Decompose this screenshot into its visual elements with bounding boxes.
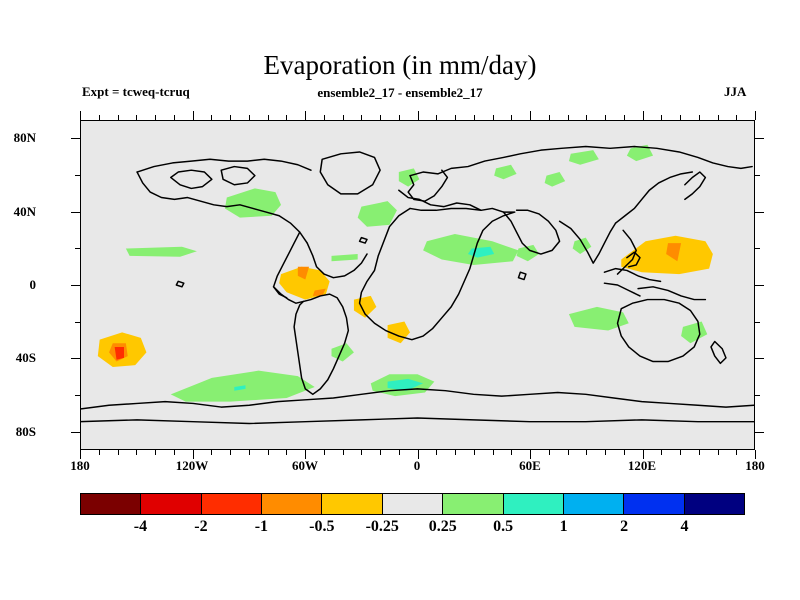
x-axis-tick	[361, 450, 362, 455]
x-axis-tick	[249, 450, 250, 455]
y-axis-tick	[71, 138, 80, 139]
x-axis-tick	[605, 450, 606, 455]
x-axis-tick-top	[286, 115, 287, 120]
x-axis-tick	[643, 450, 644, 459]
y-axis-tick-right	[755, 395, 760, 396]
x-axis-tick-top	[643, 111, 644, 120]
x-axis-tick	[211, 450, 212, 455]
x-axis-tick-top	[455, 115, 456, 120]
x-axis-tick-top	[211, 115, 212, 120]
y-tick-label-40s: 40S	[16, 350, 36, 366]
x-axis-tick-top	[80, 111, 81, 120]
x-axis-tick-top	[324, 115, 325, 120]
y-axis-tick-right	[755, 175, 760, 176]
contour-shading	[98, 145, 713, 402]
x-axis-tick	[718, 450, 719, 455]
x-axis-tick-top	[624, 115, 625, 120]
x-axis-tick-top	[343, 115, 344, 120]
y-axis-tick	[71, 358, 80, 359]
y-axis-tick-right	[755, 248, 760, 249]
x-axis-tick-top	[530, 111, 531, 120]
x-axis-tick	[568, 450, 569, 455]
x-axis-tick-top	[268, 115, 269, 120]
y-tick-label-40n: 40N	[14, 204, 36, 220]
y-axis-tick	[71, 432, 80, 433]
y-axis-tick	[75, 248, 80, 249]
colorbar-tick-label: -1	[255, 518, 268, 536]
x-axis-tick-top	[136, 115, 137, 120]
colorbar-tick-label: 2	[620, 518, 628, 536]
x-tick-label-60e: 60E	[519, 458, 541, 474]
x-axis-tick-top	[511, 115, 512, 120]
x-axis-tick	[230, 450, 231, 455]
x-axis-tick	[136, 450, 137, 455]
colorbar-tick-label: 4	[681, 518, 689, 536]
x-axis-tick-top	[155, 115, 156, 120]
x-axis-tick	[155, 450, 156, 455]
colorbar-swatch-dark-maroon	[81, 494, 141, 514]
colorbar-swatch-navy	[685, 494, 744, 514]
page-title: Evaporation (in mm/day)	[0, 50, 800, 81]
x-axis-tick	[99, 450, 100, 455]
x-axis-tick-top	[193, 111, 194, 120]
x-axis-tick-top	[718, 115, 719, 120]
x-axis-tick-top	[568, 115, 569, 120]
colorbar-tick-label: 0.25	[429, 518, 457, 536]
colorbar-tick-label: -0.5	[309, 518, 334, 536]
world-map-svg	[81, 121, 754, 449]
y-tick-label-0: 0	[30, 277, 37, 293]
y-axis-tick	[71, 285, 80, 286]
x-axis-tick-top	[755, 111, 756, 120]
x-axis-tick	[286, 450, 287, 455]
x-axis-tick-top	[736, 115, 737, 120]
y-axis-tick-right	[755, 322, 760, 323]
x-axis-tick	[455, 450, 456, 455]
colorbar-swatch-blue	[624, 494, 684, 514]
colorbar-tick-label: -0.25	[366, 518, 399, 536]
y-axis-tick-right	[755, 432, 764, 433]
colorbar-swatch-orange	[262, 494, 322, 514]
x-axis-tick	[755, 450, 756, 459]
x-axis-tick-top	[399, 115, 400, 120]
x-tick-label-0: 0	[414, 458, 421, 474]
x-axis-tick-top	[230, 115, 231, 120]
x-axis-tick	[661, 450, 662, 455]
y-tick-label-80n: 80N	[14, 130, 36, 146]
x-axis-tick	[343, 450, 344, 455]
x-axis-tick	[511, 450, 512, 455]
figure-root: Evaporation (in mm/day) Expt = tcweq-tcr…	[0, 0, 800, 600]
colorbar-swatch-sky-blue	[564, 494, 624, 514]
x-axis-tick-top	[418, 111, 419, 120]
x-axis-tick-top	[549, 115, 550, 120]
x-axis-tick-top	[249, 115, 250, 120]
y-axis-tick-right	[755, 138, 764, 139]
x-axis-tick-top	[361, 115, 362, 120]
colorbar-tick-label: 0.5	[493, 518, 513, 536]
x-tick-label-120w: 120W	[176, 458, 209, 474]
y-axis-tick	[75, 175, 80, 176]
y-axis-tick	[75, 395, 80, 396]
x-axis-tick	[586, 450, 587, 455]
y-axis-tick-right	[755, 358, 764, 359]
colorbar-swatch-light-green	[443, 494, 503, 514]
x-axis-tick	[436, 450, 437, 455]
colorbar-swatch-orange-red	[202, 494, 262, 514]
x-axis-tick	[399, 450, 400, 455]
x-axis-tick	[174, 450, 175, 455]
x-axis-tick	[305, 450, 306, 459]
x-axis-tick-top	[99, 115, 100, 120]
x-axis-tick	[380, 450, 381, 455]
x-axis-tick-top	[118, 115, 119, 120]
x-axis-tick	[474, 450, 475, 455]
x-axis-tick	[80, 450, 81, 459]
x-axis-tick	[493, 450, 494, 455]
x-axis-tick	[549, 450, 550, 455]
colorbar-tick-label: -4	[134, 518, 147, 536]
colorbar	[80, 493, 745, 515]
y-axis-tick	[71, 212, 80, 213]
x-axis-tick	[268, 450, 269, 455]
colorbar-swatch-neutral-gray	[383, 494, 443, 514]
x-axis-tick	[530, 450, 531, 459]
x-axis-tick-top	[493, 115, 494, 120]
x-axis-tick-top	[699, 115, 700, 120]
x-axis-tick	[118, 450, 119, 455]
map-plot-area	[80, 120, 755, 450]
x-axis-tick-top	[680, 115, 681, 120]
y-axis-tick	[75, 322, 80, 323]
y-axis-tick-right	[755, 285, 764, 286]
x-axis-tick	[680, 450, 681, 455]
x-tick-label-120e: 120E	[628, 458, 656, 474]
x-axis-tick-top	[661, 115, 662, 120]
x-tick-label-180e: 180	[745, 458, 765, 474]
x-axis-tick-top	[305, 111, 306, 120]
colorbar-swatch-spring-cyan	[504, 494, 564, 514]
colorbar-tick-label: -2	[194, 518, 207, 536]
x-tick-label-180w: 180	[70, 458, 90, 474]
season-label: JJA	[724, 84, 746, 100]
x-axis-tick	[324, 450, 325, 455]
x-axis-tick-top	[605, 115, 606, 120]
x-axis-tick-top	[174, 115, 175, 120]
colorbar-tick-label: 1	[560, 518, 568, 536]
x-tick-label-60w: 60W	[292, 458, 318, 474]
x-axis-tick	[699, 450, 700, 455]
colorbar-swatch-amber	[322, 494, 382, 514]
colorbar-swatch-red	[141, 494, 201, 514]
x-axis-tick	[624, 450, 625, 455]
x-axis-tick-top	[474, 115, 475, 120]
x-axis-tick-top	[380, 115, 381, 120]
x-axis-tick	[193, 450, 194, 459]
x-axis-tick-top	[436, 115, 437, 120]
x-axis-tick-top	[586, 115, 587, 120]
y-tick-label-80s: 80S	[16, 424, 36, 440]
x-axis-tick	[418, 450, 419, 459]
x-axis-tick	[736, 450, 737, 455]
ensemble-subtitle: ensemble2_17 - ensemble2_17	[0, 85, 800, 101]
y-axis-tick-right	[755, 212, 764, 213]
